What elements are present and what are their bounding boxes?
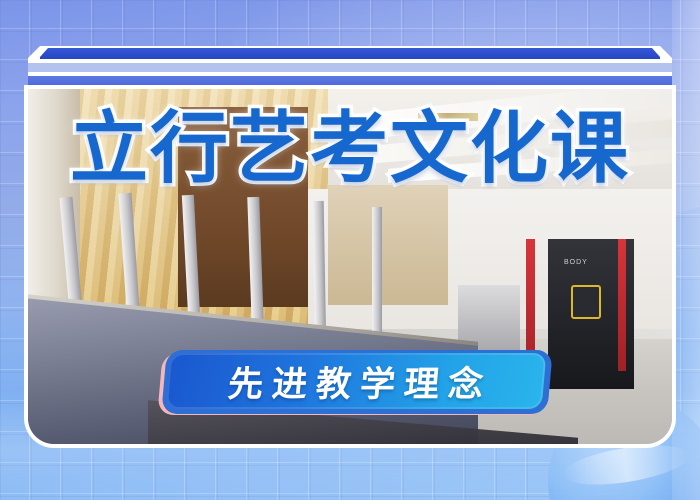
header-bar-mid	[28, 76, 672, 86]
ribbon-label: 先进教学理念	[166, 353, 547, 409]
header-bar-pale	[28, 63, 672, 72]
header-bar-dark	[40, 48, 660, 59]
poster-canvas: 自律给我自由 BODY 立行艺考文化课 先进教学理念	[0, 0, 700, 500]
page-title: 立行艺考文化课	[0, 110, 700, 188]
photo-treadmill-post-6	[372, 207, 382, 349]
feature-ribbon: 先进教学理念	[160, 349, 550, 417]
photo-machine-brand-label: BODY	[564, 259, 616, 267]
sphere-highlight-decoration	[560, 438, 692, 492]
photo-wall-panel	[328, 185, 448, 305]
right-edge-highlight	[672, 0, 700, 500]
photo-machine-red-frame-2	[618, 239, 626, 371]
photo-machine-badge	[571, 285, 601, 319]
